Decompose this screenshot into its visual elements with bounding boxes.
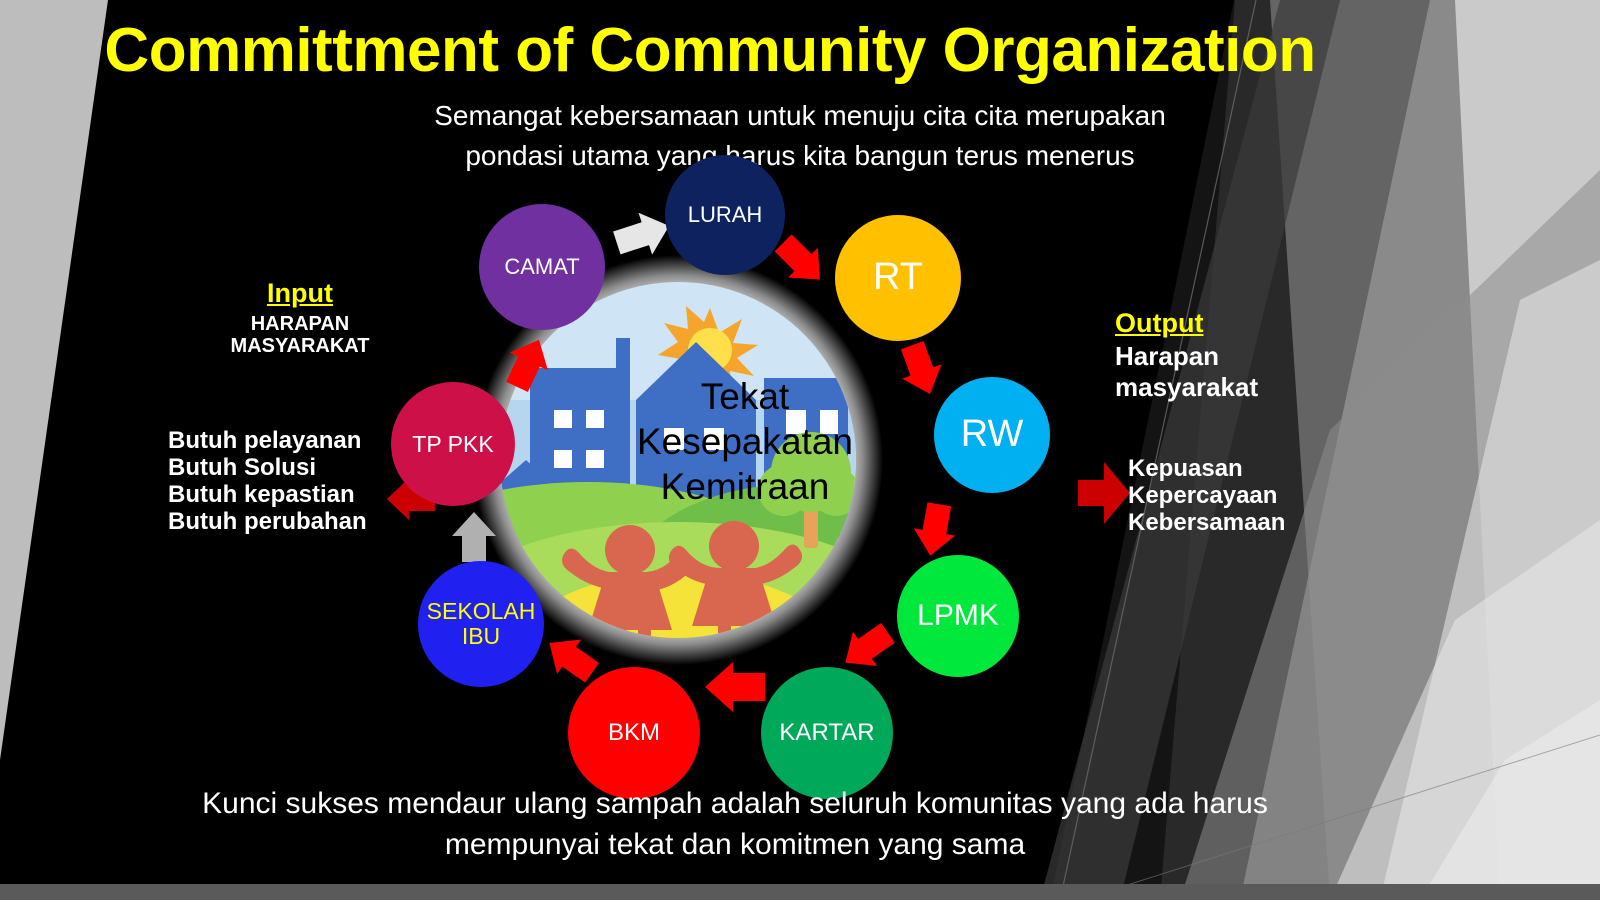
cycle-node-lpmk[interactable]: LPMK (897, 555, 1019, 677)
cycle-node-label: RW (955, 414, 1030, 455)
cycle-node-label: SEKOLAH IBU (418, 599, 544, 649)
arrow-kartar-to-bkm (705, 662, 765, 712)
cycle-node-label: RT (867, 257, 929, 298)
cycle-node-camat[interactable]: CAMAT (479, 204, 605, 330)
cycle-node-kartar[interactable]: KARTAR (761, 667, 893, 799)
caption-line-1: Kunci sukses mendaur ulang sampah adalah… (180, 784, 1290, 825)
arrow-tp-pkk-to-camat (498, 331, 558, 396)
cycle-node-label: TP PKK (406, 432, 499, 457)
slide-canvas: Committment of Community Organization Se… (0, 0, 1600, 900)
cycle-node-label: LURAH (682, 203, 769, 227)
arrow-rw-to-lpmk (910, 501, 960, 560)
cycle-node-sekolah-ibu[interactable]: SEKOLAH IBU (418, 561, 544, 687)
cycle-node-label: LPMK (911, 600, 1005, 632)
cycle-node-label: KARTAR (773, 720, 880, 746)
arrow-rt-to-rw (893, 338, 950, 401)
cycle-node-bkm[interactable]: BKM (568, 667, 700, 799)
cycle-node-lurah[interactable]: LURAH (665, 155, 785, 275)
cycle-node-label: BKM (602, 720, 666, 746)
cycle-node-rt[interactable]: RT (835, 215, 961, 341)
cycle-node-label: CAMAT (498, 255, 585, 279)
arrow-sekolah-ibu-to-tp-pkk (452, 512, 496, 562)
cycle-node-rw[interactable]: RW (934, 377, 1050, 493)
cycle-node-tp-pkk[interactable]: TP PKK (391, 382, 515, 506)
slide-caption: Kunci sukses mendaur ulang sampah adalah… (180, 784, 1290, 865)
caption-line-2: mempunyai tekat dan komitmen yang sama (180, 825, 1290, 866)
